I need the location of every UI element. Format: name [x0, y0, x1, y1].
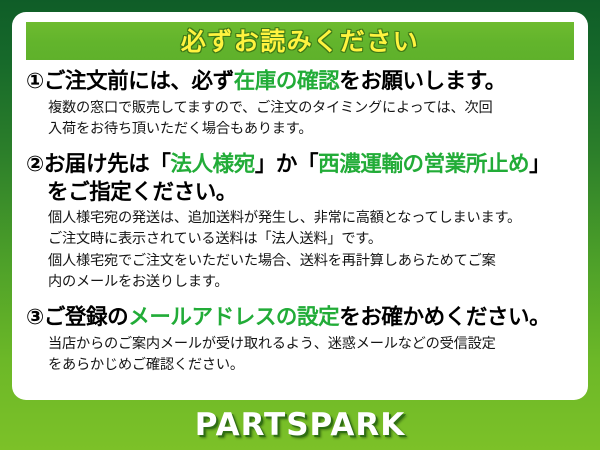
notice-body-line: 個人様宅宛の発送は、追加送料が発生し、非常に高額となってしまいます。	[48, 208, 576, 229]
notice-item-body: 複数の窓口で販売してますので、ご注文のタイミングによっては、次回入荷をお待ち頂い…	[26, 98, 576, 141]
brand-footer: PARTSPARK	[0, 400, 600, 450]
notice-item-heading: ③ご登録のメールアドレスの設定をお確かめください。	[26, 304, 576, 332]
notice-body-line: 当店からのご案内メールが受け取れるよう、迷惑メールなどの受信設定	[48, 334, 576, 355]
notice-body-line: 内のメールをお送りします。	[48, 272, 576, 293]
partspark-logo: PARTSPARK	[195, 410, 406, 441]
notice-heading-text: お届け先は「	[44, 152, 171, 177]
notice-item-body: 当店からのご案内メールが受け取れるよう、迷惑メールなどの受信設定をあらかじめご確…	[26, 334, 576, 377]
notice-body-line: ご注文時に表示されている送料は「法人送料」です。	[48, 229, 576, 250]
notice-item-heading: ①ご注文前には、必ず在庫の確認をお願いします。	[26, 68, 576, 96]
notice-highlight-text: 在庫の確認	[234, 69, 340, 94]
notice-title: 必ずお読みください	[181, 29, 420, 54]
notice-item: ②お届け先は「法人様宛」か「西濃運輸の営業所止め」をご指定ください。個人様宅宛の…	[26, 151, 576, 293]
notice-item-body: 個人様宅宛の発送は、追加送料が発生し、非常に高額となってしまいます。ご注文時に表…	[26, 208, 576, 293]
notice-heading-text: 」	[529, 152, 550, 177]
notice-body-line: をあらかじめご確認ください。	[48, 355, 576, 376]
notice-title-bar: 必ずお読みください	[26, 22, 574, 60]
notice-card: 必ずお読みください ①ご注文前には、必ず在庫の確認をお願いします。複数の窓口で販…	[12, 12, 588, 400]
notice-item-number: ②	[26, 152, 44, 177]
notice-banner: 必ずお読みください ①ご注文前には、必ず在庫の確認をお願いします。複数の窓口で販…	[0, 0, 600, 450]
notice-item-number: ①	[26, 69, 44, 94]
notice-heading-text: をお願いします。	[339, 69, 506, 94]
notice-item-heading: ②お届け先は「法人様宛」か「西濃運輸の営業所止め」をご指定ください。	[26, 151, 576, 206]
notice-item: ①ご注文前には、必ず在庫の確認をお願いします。複数の窓口で販売してますので、ご注…	[26, 68, 576, 140]
notice-content: ①ご注文前には、必ず在庫の確認をお願いします。複数の窓口で販売してますので、ご注…	[12, 68, 588, 376]
notice-body-line: 個人様宅宛でご注文をいただいた場合、送料を再計算しあらためてご案	[48, 251, 576, 272]
notice-highlight-text: 法人様宛	[170, 152, 254, 177]
notice-item-number: ③	[26, 305, 44, 330]
notice-highlight-text: 西濃運輸の営業所止め	[318, 152, 529, 177]
notice-highlight-text: メールアドレスの設定	[128, 305, 339, 330]
notice-heading-text: をお確かめください。	[339, 305, 550, 330]
notice-heading-text: 」か「	[255, 152, 318, 177]
notice-heading-line2: をご指定ください。	[26, 179, 576, 207]
notice-body-line: 複数の窓口で販売してますので、ご注文のタイミングによっては、次回	[48, 98, 576, 119]
notice-item: ③ご登録のメールアドレスの設定をお確かめください。当店からのご案内メールが受け取…	[26, 304, 576, 376]
notice-heading-text: ご注文前には、必ず	[44, 69, 234, 94]
notice-body-line: 入荷をお待ち頂いただく場合もあります。	[48, 119, 576, 140]
notice-heading-text: ご登録の	[44, 305, 128, 330]
